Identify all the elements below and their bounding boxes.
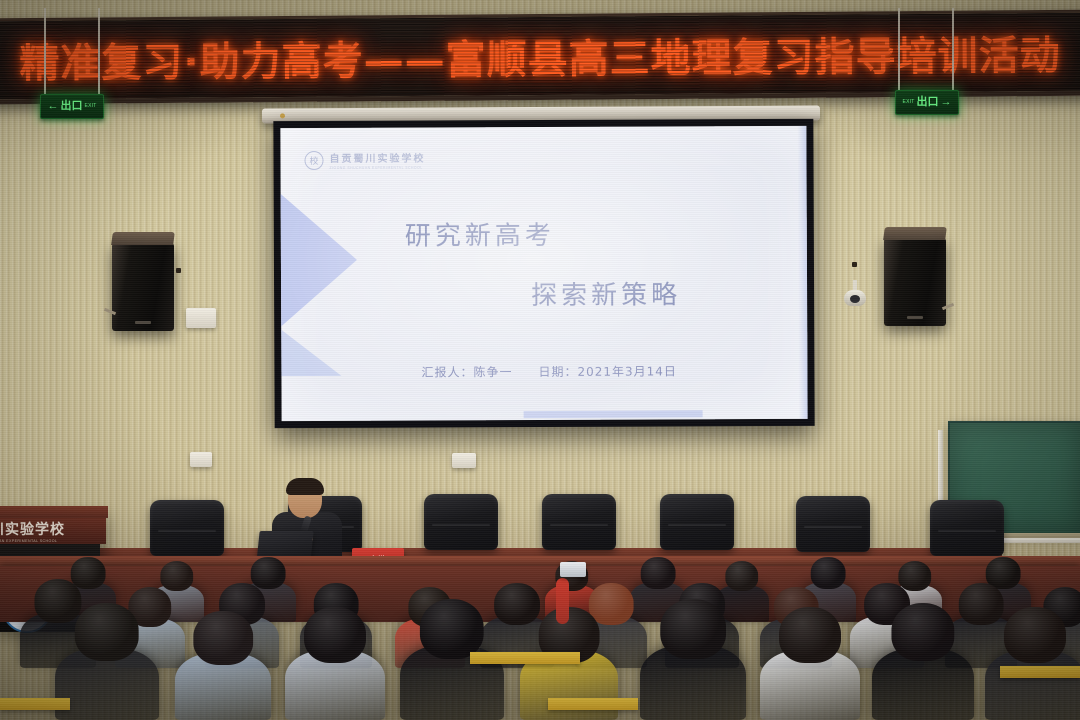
chair-back [930, 500, 1004, 556]
screen-housing-knob [280, 113, 285, 118]
exit-arrow-right-icon: → [940, 97, 951, 108]
chair-seam [938, 530, 996, 532]
chair-seam [432, 524, 490, 526]
audience-desk-left [470, 652, 580, 664]
exit-sign-right: EXIT 出口 → [895, 90, 959, 115]
exit-label-right: 出口 [916, 97, 938, 108]
slide-arrow-decoration-icon [280, 192, 357, 328]
audience-person [175, 612, 271, 720]
slide-title-line-2: 探索新策略 [531, 274, 681, 312]
exit-sub-left: EXIT [85, 104, 97, 109]
wall-fixture-dot-left [176, 268, 181, 273]
slide-meta: 汇报人：陈争一 日期：2021年3月14日 [421, 362, 677, 380]
slide-presenter: 汇报人：陈争一 [421, 363, 512, 380]
wall-fixture-dot-right [852, 262, 857, 267]
wall-panel-stage-left [190, 452, 212, 467]
banner-text: 精准复习·助力高考——富顺县高三地理复习指导培训活动 [19, 23, 1061, 89]
projection-screen: 校 自贡蜀川实验学校 ZIGONG SHUCHUAN EXPERIMENTAL … [273, 119, 814, 428]
audience-person-head [160, 561, 193, 591]
security-camera [844, 280, 866, 306]
audience-person-head [1004, 607, 1066, 663]
chair-seam [550, 524, 608, 526]
audience-desk-far-left [0, 698, 70, 710]
lecture-hall-photo: 精准复习·助力高考——富顺县高三地理复习指导培训活动 ← 出口 EXIT EXI… [0, 0, 1080, 720]
audience-desk-right [548, 698, 638, 710]
audience-person [872, 604, 974, 720]
audience-desk-far-right [1000, 666, 1080, 678]
speaker-left-top [111, 232, 175, 245]
wall-panel-left [186, 308, 216, 328]
audience-person-head [660, 599, 726, 659]
chair-back [542, 494, 616, 550]
presentation-slide: 校 自贡蜀川实验学校 ZIGONG SHUCHUAN EXPERIMENTAL … [280, 126, 807, 421]
audience-front-row [0, 628, 1080, 720]
exit-sign-rod-left [44, 8, 46, 96]
slide-title-line-1: 研究新高考 [405, 215, 555, 253]
speaker-right-badge [907, 316, 923, 319]
exit-sub-right: EXIT [903, 100, 915, 105]
school-logo-name-en: ZIGONG SHUCHUAN EXPERIMENTAL SCHOOL [330, 166, 426, 170]
exit-sign-rod-right-2 [952, 8, 954, 90]
chair-seam [158, 530, 216, 532]
audience-person [640, 600, 746, 720]
podium-top [0, 506, 108, 518]
audience-person-head [193, 611, 253, 665]
podium-sign-cn: 川实验学校 [0, 519, 106, 539]
slide-arrow-decoration-2-icon [280, 328, 341, 376]
chair-back [796, 496, 870, 552]
exit-sign-rod-right [898, 8, 900, 90]
audience-person [760, 608, 860, 720]
school-logo-mark-icon: 校 [304, 150, 323, 169]
audience-person [985, 608, 1080, 720]
wall-speaker-left [112, 243, 174, 331]
exit-sign-left: ← 出口 EXIT [40, 94, 104, 119]
chair-back [150, 500, 224, 556]
slide-bottom-band [524, 410, 703, 418]
speaker-left-badge [135, 321, 151, 324]
audience-person-head [811, 557, 846, 589]
presenter-hair [286, 478, 324, 495]
chair-back [424, 494, 498, 550]
smartphone [560, 562, 586, 577]
exit-label-left: 出口 [61, 101, 83, 112]
photographer-arm [556, 578, 569, 624]
audience-person-head [420, 599, 484, 659]
slide-right-edge-band [797, 126, 807, 419]
wall-panel-stage-mid [452, 453, 476, 468]
audience-person-head [779, 607, 841, 663]
exit-sign-rod-left-2 [98, 8, 100, 96]
wall-speaker-right [884, 238, 946, 326]
podium-sign-en: CHUAN EXPERIMENTAL SCHOOL [0, 539, 106, 543]
audience-person [285, 608, 385, 720]
speaker-right-top [883, 227, 947, 240]
school-logo-name-cn: 自贡蜀川实验学校 [329, 150, 425, 165]
audience-person-head [304, 607, 366, 663]
podium-school-sign: 川实验学校 CHUAN EXPERIMENTAL SCHOOL [0, 518, 106, 544]
audience-person [55, 604, 159, 720]
camera-lens-icon [850, 295, 860, 303]
exit-arrow-left-icon: ← [48, 101, 59, 112]
chair-seam [668, 524, 726, 526]
chair-seam [804, 526, 862, 528]
audience-person-head [75, 603, 139, 661]
slide-date: 日期：2021年3月14日 [538, 362, 677, 380]
audience-person-head [891, 603, 954, 661]
chair-back [660, 494, 734, 550]
school-logo: 校 自贡蜀川实验学校 ZIGONG SHUCHUAN EXPERIMENTAL … [304, 150, 425, 171]
